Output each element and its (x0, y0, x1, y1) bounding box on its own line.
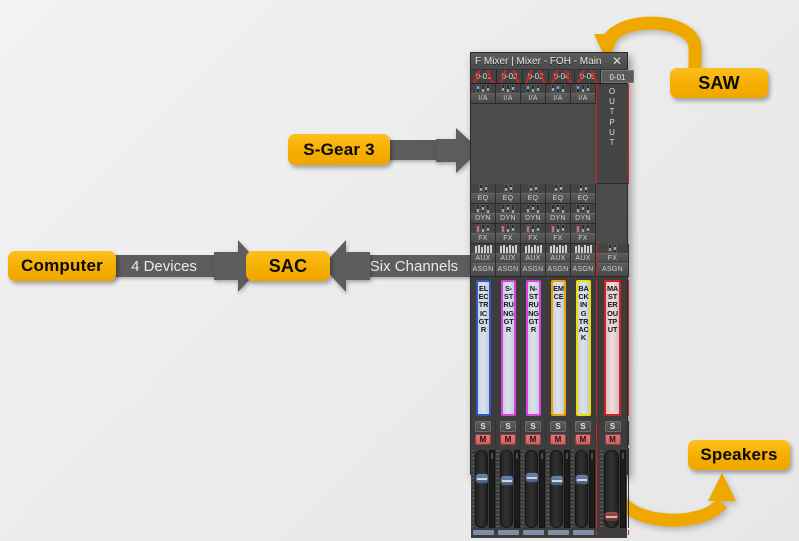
mini-fader-icon[interactable] (534, 184, 538, 193)
channel-fader[interactable] (575, 450, 588, 528)
fader-scale-ticks (546, 450, 549, 528)
level-meter (564, 450, 570, 528)
mini-fader-icon[interactable] (556, 204, 560, 213)
nameplate-cell-master[interactable]: MASTER OUTPUT (596, 280, 629, 416)
section-controls[interactable] (571, 184, 595, 193)
section-label: I/A (471, 93, 495, 103)
section-controls[interactable] (571, 84, 595, 93)
mini-fader-icon[interactable] (613, 244, 617, 253)
channel-number-tag[interactable]: 0-05 (575, 70, 601, 83)
section-asgn[interactable]: ASGN (521, 264, 546, 277)
mute-button[interactable]: M (575, 434, 591, 445)
solo-button[interactable]: S (525, 421, 541, 432)
mini-fader-icon[interactable] (561, 204, 565, 213)
master-section-label: ASGN (597, 263, 628, 276)
diagram-canvas: Computer SAC S-Gear 3 SAW Speakers 4 Dev… (0, 0, 799, 541)
section-ia[interactable]: I/A (571, 84, 596, 104)
section-label: ASGN (496, 263, 520, 276)
section-eq[interactable]: EQ (521, 184, 546, 204)
section-controls[interactable] (471, 204, 495, 213)
nameplate-cell[interactable]: EMCEE (546, 280, 571, 416)
footer-bar (473, 530, 494, 535)
section-controls[interactable] (546, 84, 570, 93)
mini-fader-icon[interactable] (579, 184, 583, 193)
footer-cell (496, 530, 521, 535)
master-section-asgn[interactable]: ASGN (596, 264, 629, 277)
mini-fader-icon[interactable] (586, 84, 590, 93)
section-label: DYN (471, 213, 495, 223)
level-meter (539, 450, 545, 528)
solo-button[interactable]: S (475, 421, 491, 432)
section-eq[interactable]: EQ (571, 184, 596, 204)
footer-bar (548, 530, 569, 535)
section-fx[interactable]: FX (546, 224, 571, 244)
mini-fader-icon[interactable] (509, 184, 513, 193)
master-level-meter (620, 450, 626, 528)
section-label: ASGN (471, 263, 495, 276)
mini-fader-icon[interactable] (486, 224, 490, 233)
section-ia[interactable]: I/A (471, 84, 496, 104)
mini-fader-icon[interactable] (501, 84, 505, 93)
mini-fader-icon[interactable] (551, 224, 555, 233)
section-aux[interactable]: AUX (546, 244, 571, 264)
section-label: ASGN (546, 263, 570, 276)
mini-fader-icon[interactable] (554, 184, 558, 193)
fader-cell-master (596, 448, 629, 528)
section-label: ASGN (521, 263, 545, 276)
channel-name[interactable]: EMCEE (551, 280, 566, 416)
section-row-ia: I/A I/A I/A (471, 84, 627, 184)
fader-cell (546, 448, 571, 528)
channel-number-tag[interactable]: 0-04 (549, 70, 575, 83)
channel-name[interactable]: BACKING TRACK (576, 280, 591, 416)
master-number-tag[interactable]: 0-01 (601, 70, 634, 83)
section-dyn[interactable]: DYN (471, 204, 496, 224)
section-asgn[interactable]: ASGN (471, 264, 496, 277)
mini-fader-icon[interactable] (581, 84, 585, 93)
section-aux[interactable]: AUX (471, 244, 496, 264)
callout-sac[interactable]: SAC (246, 251, 330, 281)
fader-cell (571, 448, 596, 528)
section-ia[interactable]: I/A (496, 84, 521, 104)
mini-fader-icon[interactable] (531, 224, 535, 233)
nameplate-cell[interactable]: S-STRUNG GTR (496, 280, 521, 416)
master-channel-name[interactable]: MASTER OUTPUT (604, 280, 621, 416)
footer-cell (471, 530, 496, 535)
fader-handle[interactable] (500, 475, 514, 486)
mini-fader-icon[interactable] (506, 224, 510, 233)
mute-button[interactable]: M (475, 434, 491, 445)
section-label: AUX (471, 253, 495, 263)
solo-button[interactable]: S (550, 421, 566, 432)
section-row-dyn: DYN DYN DYN (471, 204, 627, 224)
connector-sgear-to-mixer (384, 140, 442, 160)
master-section-label: FX (597, 253, 628, 263)
section-label: DYN (521, 213, 545, 223)
channel-fader[interactable] (500, 450, 513, 528)
mini-fader-icon[interactable] (556, 224, 560, 233)
nameplate-cell[interactable]: N-STRUNG GTR (521, 280, 546, 416)
mini-fader-icon[interactable] (531, 204, 535, 213)
channel-fader[interactable] (525, 450, 538, 528)
mini-fader-icon[interactable] (561, 84, 565, 93)
section-row-fx: FX FX FX (471, 224, 627, 244)
mini-fader-icon[interactable] (586, 224, 590, 233)
callout-speakers-label: Speakers (700, 445, 777, 465)
section-label: AUX (571, 253, 595, 263)
fader-handle[interactable] (475, 473, 489, 484)
solo-mute-cell: S M (496, 421, 521, 445)
section-controls[interactable] (521, 204, 545, 213)
section-controls[interactable] (571, 224, 595, 233)
section-controls[interactable] (597, 244, 628, 253)
section-label: I/A (496, 93, 520, 103)
section-label: EQ (521, 193, 545, 203)
nameplate-cell[interactable]: BACKING TRACK (571, 280, 596, 416)
master-section-fx[interactable]: FX (596, 244, 629, 264)
section-asgn[interactable]: ASGN (496, 264, 521, 277)
solo-mute-cell: S M (521, 421, 546, 445)
fader-scale-ticks (521, 450, 524, 528)
section-controls[interactable] (546, 184, 570, 193)
section-eq[interactable]: EQ (471, 184, 496, 204)
aux-bars-icon[interactable] (521, 244, 545, 253)
fader-handle[interactable] (525, 472, 539, 483)
section-controls[interactable] (546, 204, 570, 213)
mini-fader-icon[interactable] (584, 184, 588, 193)
solo-mute-cell-master: S M (596, 421, 629, 445)
mute-button[interactable]: M (500, 434, 516, 445)
fader-row (471, 448, 627, 530)
connector-six-channels: Six Channels (352, 255, 476, 277)
mini-fader-icon[interactable] (526, 224, 530, 233)
section-fx[interactable]: FX (521, 224, 546, 244)
section-label: FX (571, 233, 595, 243)
channel-number-tag[interactable]: 0-03 (523, 70, 549, 83)
solo-button[interactable]: S (575, 421, 591, 432)
mini-fader-icon[interactable] (511, 84, 515, 93)
channel-name[interactable]: ELECTRIC GTR (476, 280, 491, 416)
section-eq[interactable]: EQ (496, 184, 521, 204)
callout-sgear[interactable]: S-Gear 3 (288, 134, 390, 165)
mini-fader-icon[interactable] (531, 84, 535, 93)
aux-bars-icon[interactable] (496, 244, 520, 253)
section-row-aux: AUX AUX AUX AU (471, 244, 627, 264)
callout-saw[interactable]: SAW (670, 68, 768, 98)
callout-sgear-label: S-Gear 3 (303, 140, 375, 160)
footer-cell (571, 530, 596, 535)
connector-computer-to-sac-label: 4 Devices (131, 258, 197, 275)
mini-fader-icon[interactable] (556, 84, 560, 93)
master-fader-handle[interactable] (604, 511, 619, 522)
mini-fader-icon[interactable] (536, 84, 540, 93)
channel-nameplate-row: ELECTRIC GTR S-STRUNG GTR N-STRUNG GTR E… (471, 277, 627, 419)
mini-fader-icon[interactable] (479, 184, 483, 193)
section-dyn[interactable]: DYN (571, 204, 596, 224)
section-label: DYN (571, 213, 595, 223)
mini-fader-icon[interactable] (476, 224, 480, 233)
connector-computer-to-sac: 4 Devices (108, 255, 220, 277)
mini-fader-icon[interactable] (536, 224, 540, 233)
section-label: DYN (546, 213, 570, 223)
section-controls[interactable] (521, 184, 545, 193)
section-controls[interactable] (496, 84, 520, 93)
fader-handle[interactable] (550, 475, 564, 486)
channel-fader[interactable] (475, 450, 488, 528)
section-label: ASGN (571, 263, 595, 276)
section-label: EQ (546, 193, 570, 203)
mini-fader-icon[interactable] (551, 84, 555, 93)
section-controls[interactable] (496, 204, 520, 213)
section-ia[interactable]: I/A (546, 84, 571, 104)
mini-fader-icon[interactable] (501, 224, 505, 233)
level-meter (589, 450, 595, 528)
master-mute-button[interactable]: M (605, 434, 621, 445)
solo-mute-cell: S M (471, 421, 496, 445)
channel-number-tag[interactable]: 0-01 (471, 70, 497, 83)
section-label: AUX (521, 253, 545, 263)
aux-bars-icon[interactable] (571, 244, 595, 253)
section-label: FX (521, 233, 545, 243)
channel-number-tag[interactable]: 0-02 (497, 70, 523, 83)
section-ia[interactable]: I/A (521, 84, 546, 104)
section-label: AUX (546, 253, 570, 263)
section-controls[interactable] (496, 224, 520, 233)
section-label: EQ (471, 193, 495, 203)
mixer-title: F Mixer | Mixer - FOH - Main (475, 56, 609, 67)
master-fader[interactable] (604, 450, 619, 528)
section-label: EQ (571, 193, 595, 203)
section-controls[interactable] (521, 224, 545, 233)
footer-bar (573, 530, 594, 535)
channel-number-row: 0-01 0-02 0-03 0-04 0-05 0-01 (471, 70, 627, 84)
section-asgn[interactable]: ASGN (546, 264, 571, 277)
section-aux[interactable]: AUX (496, 244, 521, 264)
callout-computer-label: Computer (21, 256, 103, 276)
mini-fader-icon[interactable] (581, 204, 585, 213)
mini-fader-icon[interactable] (526, 84, 530, 93)
fader-scale-ticks (496, 450, 499, 528)
mini-fader-icon[interactable] (481, 84, 485, 93)
footer-cell (521, 530, 546, 535)
section-fx[interactable]: FX (471, 224, 496, 244)
mini-fader-icon[interactable] (559, 184, 563, 193)
solo-mute-row: S M S M S M S M S M S M (471, 419, 627, 448)
channel-fader[interactable] (550, 450, 563, 528)
level-meter (514, 450, 520, 528)
mixer-title-bar[interactable]: F Mixer | Mixer - FOH - Main ✕ (471, 53, 627, 70)
section-row-eq: EQ EQ EQ EQ (471, 184, 627, 204)
aux-bars-icon[interactable] (471, 244, 495, 253)
section-label: FX (546, 233, 570, 243)
section-fx[interactable]: FX (496, 224, 521, 244)
fader-scale-ticks (571, 450, 574, 528)
section-label: EQ (496, 193, 520, 203)
callout-sac-label: SAC (269, 256, 308, 277)
aux-bars-icon[interactable] (546, 244, 570, 253)
section-fx[interactable]: FX (571, 224, 596, 244)
mini-fader-icon[interactable] (481, 204, 485, 213)
section-controls[interactable] (471, 184, 495, 193)
fader-scale-ticks (600, 450, 603, 528)
mini-fader-icon[interactable] (504, 184, 508, 193)
fader-cell (496, 448, 521, 528)
connector-six-channels-label: Six Channels (370, 258, 458, 275)
solo-button[interactable]: S (500, 421, 516, 432)
section-label: FX (496, 233, 520, 243)
mini-fader-icon[interactable] (476, 204, 480, 213)
mute-button[interactable]: M (525, 434, 541, 445)
mini-fader-icon[interactable] (484, 184, 488, 193)
mini-fader-icon[interactable] (501, 204, 505, 213)
mini-fader-icon[interactable] (561, 224, 565, 233)
footer-bar (523, 530, 544, 535)
section-controls[interactable] (471, 224, 495, 233)
mini-fader-icon[interactable] (576, 204, 580, 213)
master-output-text: OUTPUT (608, 87, 618, 148)
mini-fader-icon[interactable] (576, 224, 580, 233)
section-label: FX (471, 233, 495, 243)
mini-fader-icon[interactable] (486, 84, 490, 93)
section-label: I/A (571, 93, 595, 103)
section-label: I/A (546, 93, 570, 103)
close-icon[interactable]: ✕ (609, 55, 625, 67)
section-controls[interactable] (571, 204, 595, 213)
callout-saw-label: SAW (698, 73, 740, 94)
mixer-window[interactable]: F Mixer | Mixer - FOH - Main ✕ 0-01 0-02… (470, 52, 628, 475)
section-controls[interactable] (521, 84, 545, 93)
footer-bar (498, 530, 519, 535)
section-controls[interactable] (471, 84, 495, 93)
section-controls[interactable] (496, 184, 520, 193)
mini-fader-icon[interactable] (536, 204, 540, 213)
section-aux[interactable]: AUX (571, 244, 596, 264)
master-solo-button[interactable]: S (605, 421, 621, 432)
section-label: DYN (496, 213, 520, 223)
mini-fader-icon[interactable] (506, 84, 510, 93)
mini-fader-icon[interactable] (476, 84, 480, 93)
solo-mute-cell: S M (546, 421, 571, 445)
mute-button[interactable]: M (550, 434, 566, 445)
footer-cell-master (596, 530, 629, 535)
fader-cell (521, 448, 546, 528)
mini-fader-icon[interactable] (608, 244, 612, 253)
section-aux[interactable]: AUX (521, 244, 546, 264)
solo-mute-cell: S M (571, 421, 596, 445)
mini-fader-icon[interactable] (526, 204, 530, 213)
nameplate-cell[interactable]: ELECTRIC GTR (471, 280, 496, 416)
mini-fader-icon[interactable] (586, 204, 590, 213)
section-controls[interactable] (546, 224, 570, 233)
section-dyn[interactable]: DYN (496, 204, 521, 224)
section-asgn[interactable]: ASGN (571, 264, 596, 277)
mini-fader-icon[interactable] (511, 224, 515, 233)
mini-fader-icon[interactable] (529, 184, 533, 193)
section-eq[interactable]: EQ (546, 184, 571, 204)
mini-fader-icon[interactable] (551, 204, 555, 213)
mini-fader-icon[interactable] (576, 84, 580, 93)
master-output-vertical-label: OUTPUT (596, 84, 629, 184)
section-row-asgn: ASGN ASGN ASGN ASGN ASGN ASGN (471, 264, 627, 277)
callout-computer[interactable]: Computer (8, 251, 116, 281)
mini-fader-icon[interactable] (581, 224, 585, 233)
section-label: I/A (521, 93, 545, 103)
section-dyn[interactable]: DYN (546, 204, 571, 224)
channel-name[interactable]: N-STRUNG GTR (526, 280, 541, 416)
mini-fader-icon[interactable] (511, 204, 515, 213)
mini-fader-icon[interactable] (506, 204, 510, 213)
mini-fader-icon[interactable] (486, 204, 490, 213)
section-dyn[interactable]: DYN (521, 204, 546, 224)
fader-cell (471, 448, 496, 528)
channel-name[interactable]: S-STRUNG GTR (501, 280, 516, 416)
mini-fader-icon[interactable] (481, 224, 485, 233)
fader-handle[interactable] (575, 474, 589, 485)
level-meter (489, 450, 495, 528)
section-label: AUX (496, 253, 520, 263)
callout-speakers[interactable]: Speakers (688, 440, 790, 470)
fader-footer-row (471, 530, 627, 538)
fader-scale-ticks (471, 450, 474, 528)
footer-cell (546, 530, 571, 535)
